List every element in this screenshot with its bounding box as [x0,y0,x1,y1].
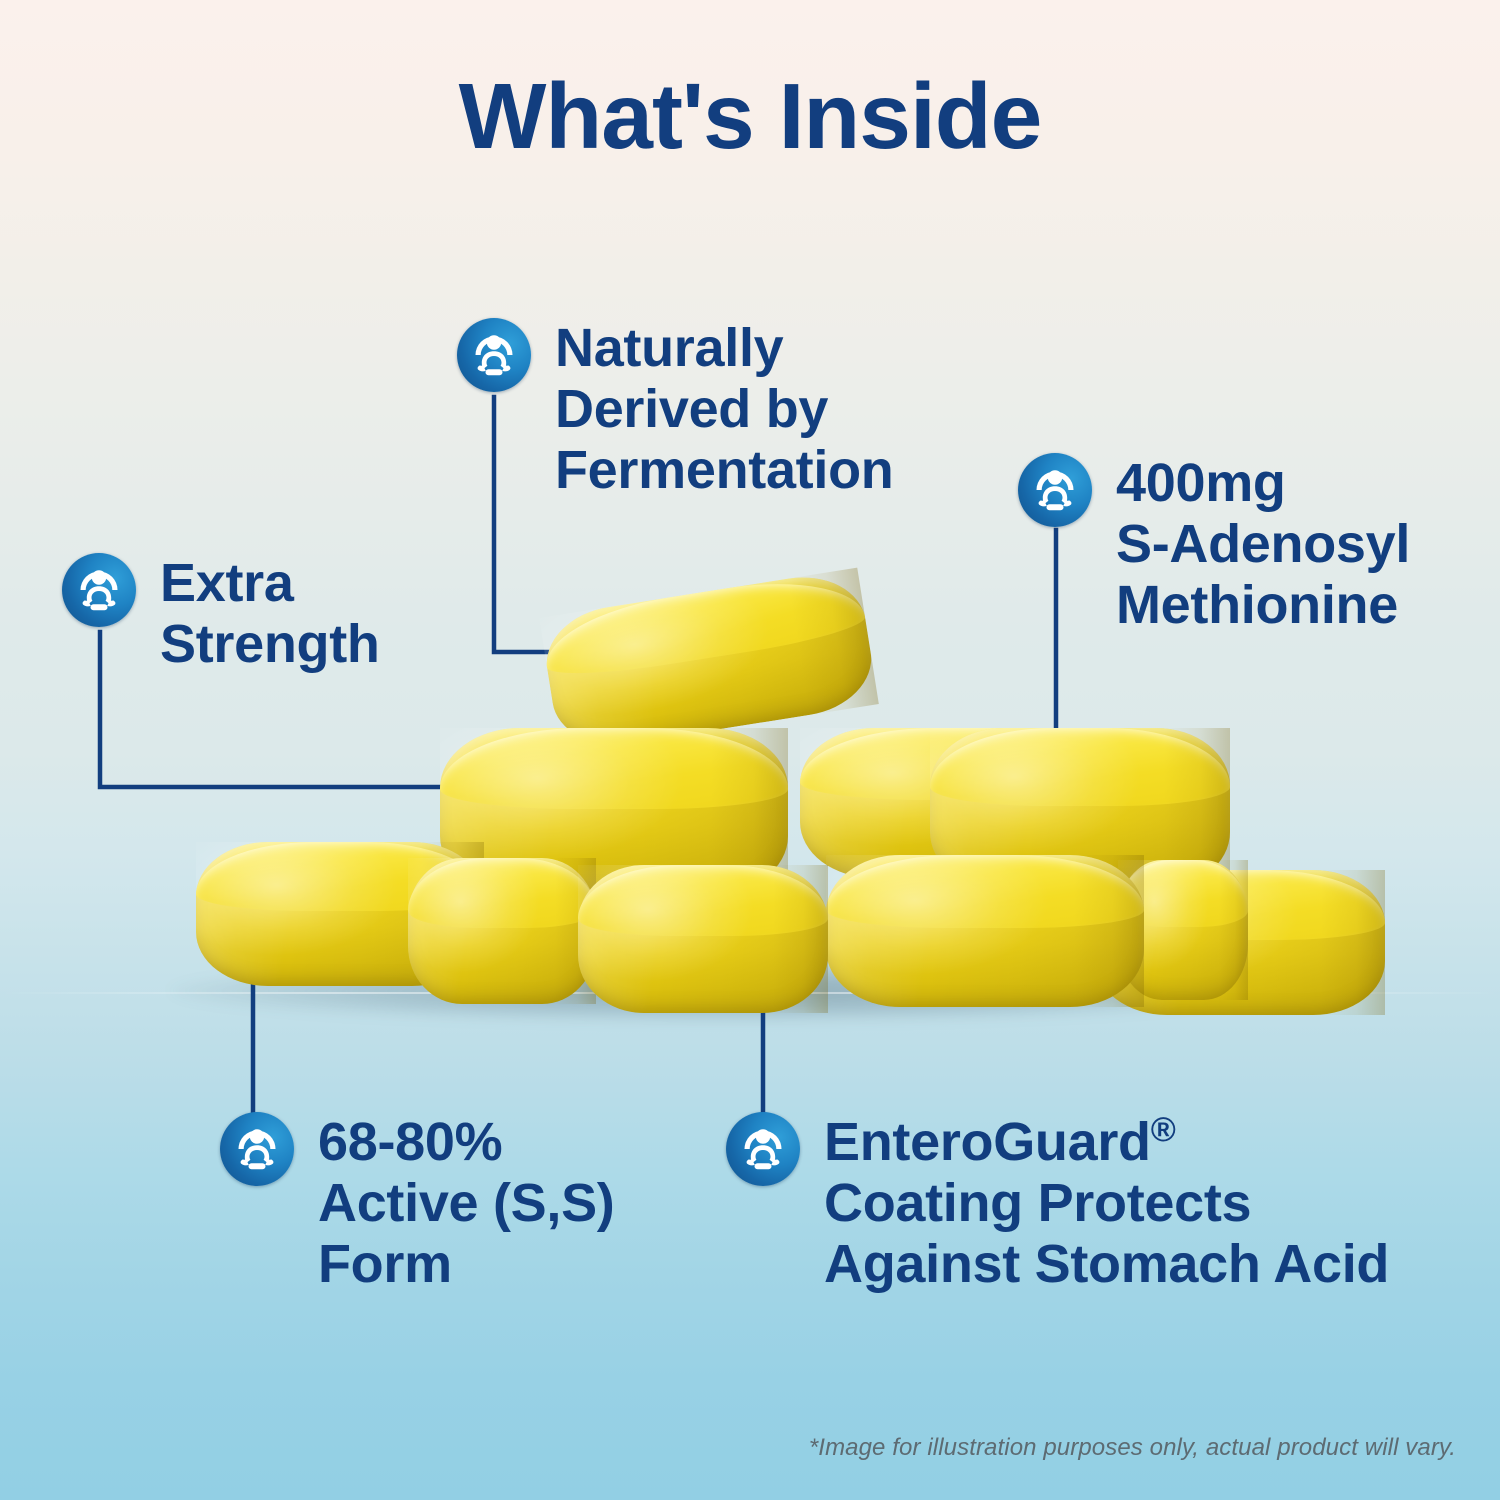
registered-trademark-symbol: ® [1151,1111,1176,1149]
tablet-bottom-left [408,858,596,1004]
callout-active-form[interactable]: 68-80% Active (S,S) Form [220,1112,615,1295]
callout-extra-strength-label: Extra Strength [160,553,380,675]
callout-active-form-label: 68-80% Active (S,S) Form [318,1112,615,1295]
callout-extra-strength[interactable]: Extra Strength [62,553,380,675]
callout-fermentation-label: Naturally Derived by Fermentation [555,318,893,501]
meditating-person-icon [220,1112,294,1186]
callout-s-adenosyl-methionine[interactable]: 400mg S-Adenosyl Methionine [1018,453,1410,636]
tablet-top-tilted [539,568,879,755]
meditating-person-icon [1018,453,1092,527]
tablet-bottom-center [578,865,828,1013]
callout-enteroguard-rest: Coating Protects Against Stomach Acid [824,1173,1389,1294]
meditating-person-icon [62,553,136,627]
page-title: What's Inside [0,68,1500,166]
callout-enteroguard[interactable]: EnteroGuard® Coating Protects Against St… [726,1112,1389,1295]
infographic-canvas: What's Inside [0,0,1500,1500]
callout-enteroguard-brand: EnteroGuard [824,1112,1151,1172]
meditating-person-icon [726,1112,800,1186]
callout-fermentation[interactable]: Naturally Derived by Fermentation [457,318,893,501]
tablet-bottom-right [826,855,1144,1007]
callout-enteroguard-label: EnteroGuard® Coating Protects Against St… [824,1112,1389,1295]
illustration-disclaimer: *Image for illustration purposes only, a… [809,1434,1456,1462]
meditating-person-icon [457,318,531,392]
callout-s-adenosyl-methionine-label: 400mg S-Adenosyl Methionine [1116,453,1410,636]
